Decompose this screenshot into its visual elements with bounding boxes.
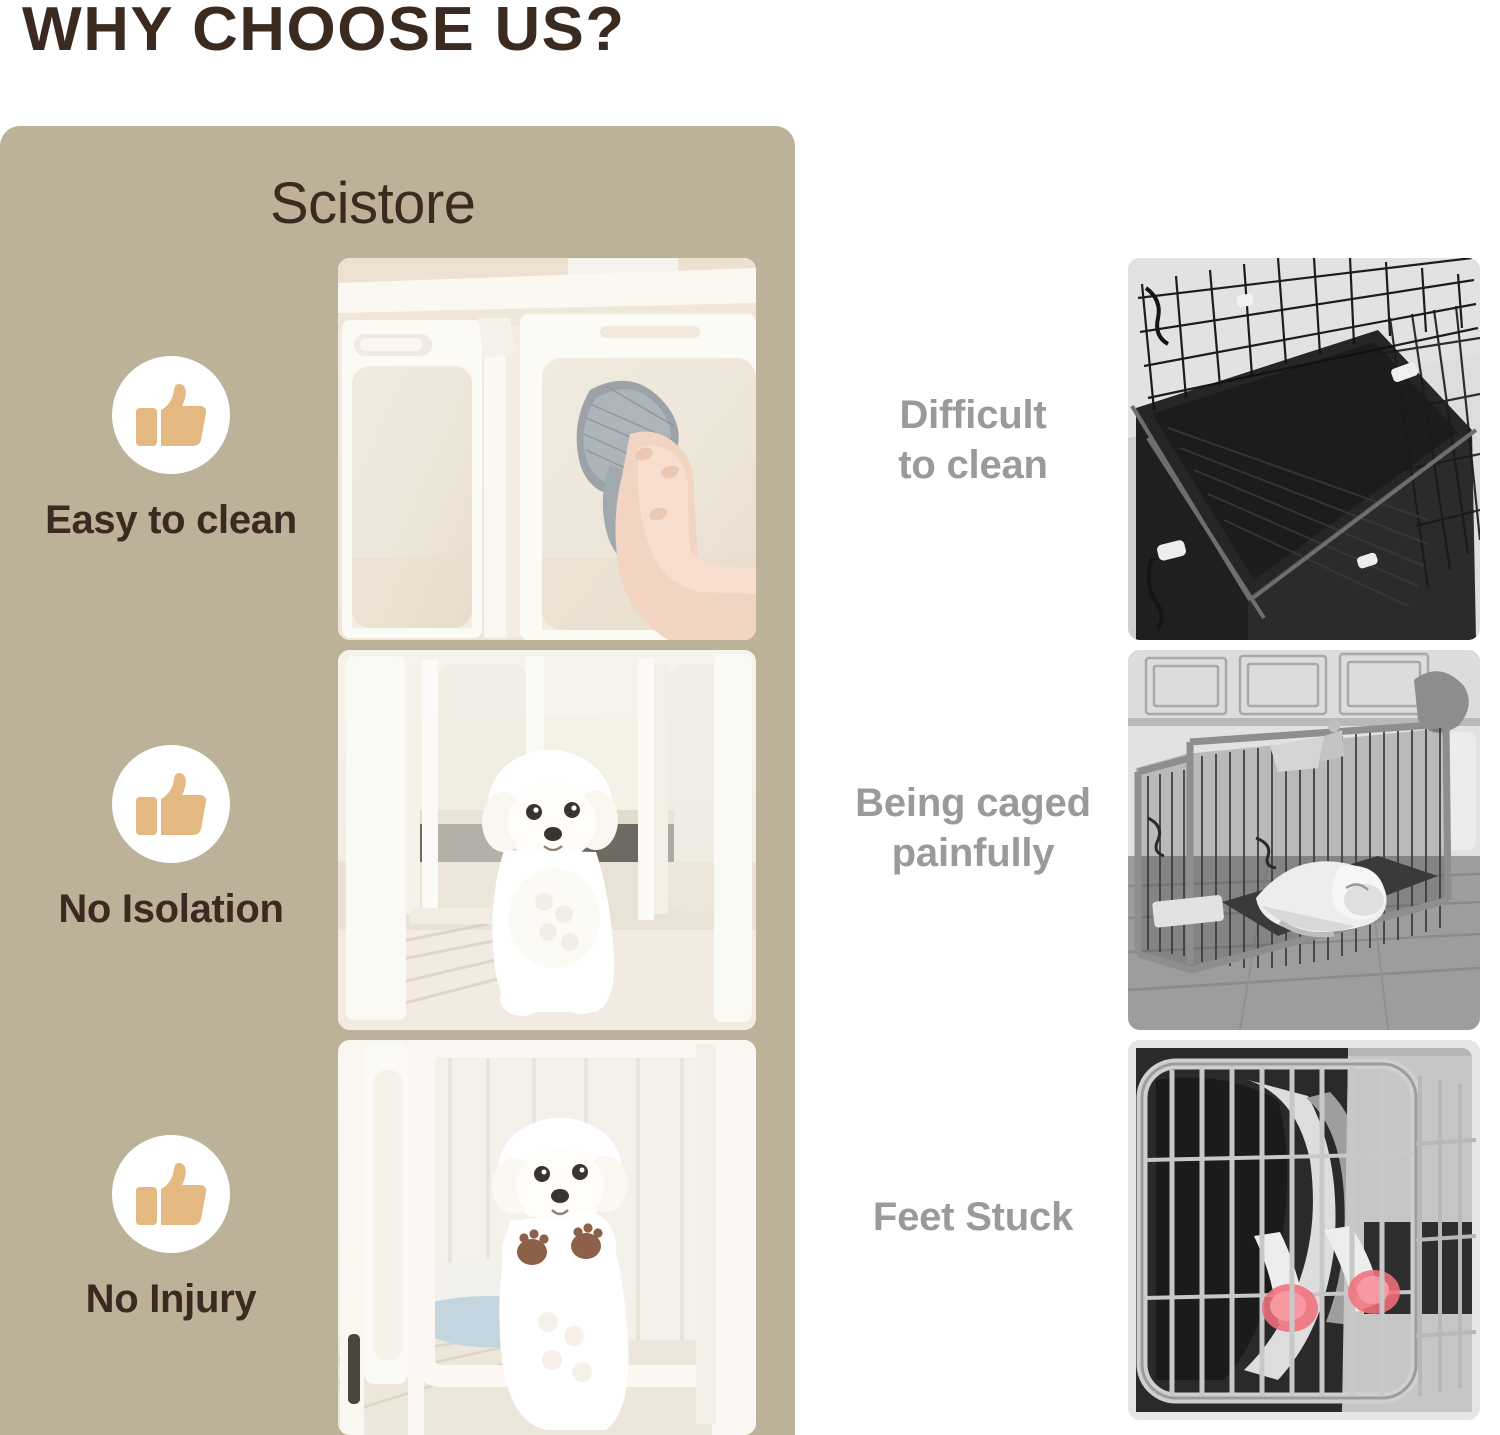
- page-title: WHY CHOOSE US?: [22, 0, 626, 65]
- con-photo-difficult-to-clean: [1128, 258, 1480, 640]
- pro-feature-3: No Injury: [12, 1135, 330, 1321]
- pro-feature-1-label: Easy to clean: [12, 498, 330, 542]
- brand-name: Scistore: [270, 170, 476, 237]
- pro-photo-easy-to-clean: [338, 258, 756, 640]
- pro-feature-2: No Isolation: [12, 745, 330, 931]
- con-label-line: Being caged: [828, 778, 1118, 828]
- pro-feature-2-label: No Isolation: [12, 887, 330, 931]
- con-label-line: Feet Stuck: [828, 1192, 1118, 1242]
- con-photo-being-caged-painfully: [1128, 650, 1480, 1030]
- con-label-line: painfully: [828, 828, 1118, 878]
- thumbs-up-icon-1: [112, 356, 230, 474]
- pro-photo-no-injury: [338, 1040, 756, 1435]
- con-label-line: Difficult: [828, 390, 1118, 440]
- pro-feature-1: Easy to clean: [12, 356, 330, 542]
- con-label-line: to clean: [828, 440, 1118, 490]
- con-label-difficult-to-clean: Difficult to clean: [828, 390, 1118, 490]
- con-photo-feet-stuck: [1128, 1040, 1480, 1420]
- thumbs-up-icon-3: [112, 1135, 230, 1253]
- pro-photo-no-isolation: [338, 650, 756, 1030]
- con-label-feet-stuck: Feet Stuck: [828, 1192, 1118, 1242]
- thumbs-up-icon-2: [112, 745, 230, 863]
- pro-feature-3-label: No Injury: [12, 1277, 330, 1321]
- con-label-being-caged-painfully: Being caged painfully: [828, 778, 1118, 878]
